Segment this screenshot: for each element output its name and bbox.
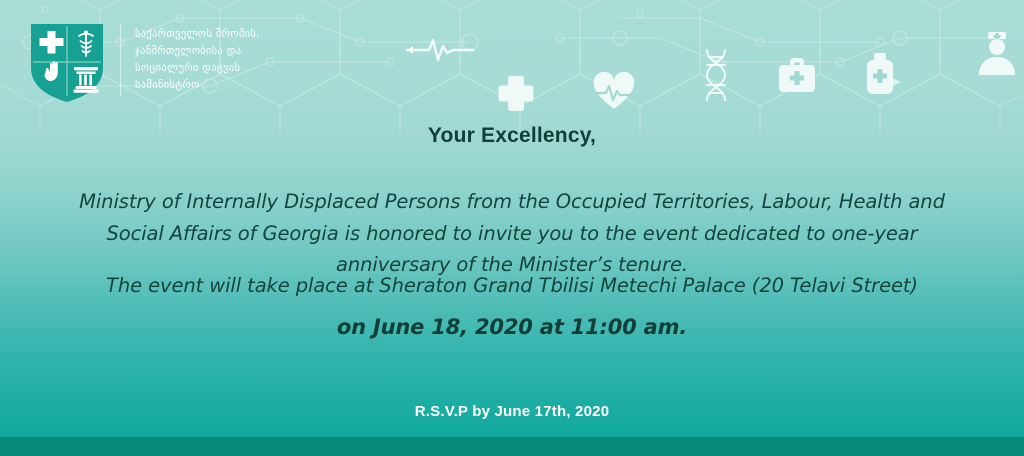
invitation-content: Your Excellency, Ministry of Internally … — [0, 0, 1024, 456]
footer-band — [0, 437, 1024, 456]
invitation-body-text: Ministry of Internally Displaced Persons… — [52, 186, 972, 281]
rsvp-text: R.S.V.P by June 17th, 2020 — [0, 403, 1024, 420]
invitation-card: საქართველოს შრომის, ჯანმრთელობისა და სოც… — [0, 0, 1024, 456]
invitation-venue-text: The event will take place at Sheraton Gr… — [52, 271, 972, 300]
invitation-datetime-text: on June 18, 2020 at 11:00 am. — [52, 313, 972, 342]
salutation: Your Excellency, — [0, 124, 1024, 148]
